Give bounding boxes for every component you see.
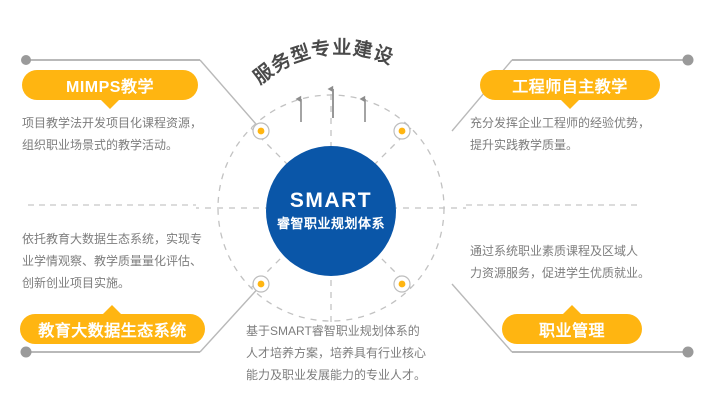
footer-body-line: 人才培养方案，培养具有行业核心 xyxy=(246,342,471,364)
lead-line-top-right xyxy=(512,55,694,66)
core-title-en: SMART xyxy=(290,188,372,214)
lead-line-top-left xyxy=(21,55,200,65)
ring-node-bottom-right[interactable] xyxy=(394,276,410,292)
lead-line-bottom-right xyxy=(512,347,694,358)
footer-body-line: 能力及职业发展能力的专业人才。 xyxy=(246,364,471,386)
branch-body-line: 充分发挥企业工程师的经验优势， xyxy=(470,112,680,134)
footer-body-line: 基于SMART睿智职业规划体系的 xyxy=(246,320,471,342)
branch-body-line: 提升实践教学质量。 xyxy=(470,134,680,156)
branch-body-mimps: 项目教学法开发项目化课程资源， 组织职业场景式的教学活动。 xyxy=(22,112,222,156)
core-title-cn: 睿智职业规划体系 xyxy=(277,214,385,234)
branch-body-line: 创新创业项目实施。 xyxy=(22,272,227,294)
branch-body-line: 业学情观察、教学质量量化评估、 xyxy=(22,250,227,272)
ring-node-top-left[interactable] xyxy=(253,123,269,139)
pointer-triangle-engineer xyxy=(561,100,579,109)
branch-body-career: 通过系统职业素质课程及区域人 力资源服务，促进学生优质就业。 xyxy=(470,240,680,284)
branch-body-engineer: 充分发挥企业工程师的经验优势， 提升实践教学质量。 xyxy=(470,112,680,156)
pointer-triangle-mimps xyxy=(101,100,119,109)
pointer-triangle-bigdata xyxy=(103,305,121,314)
branch-body-line: 依托教育大数据生态系统，实现专 xyxy=(22,228,227,250)
ring-node-top-right[interactable] xyxy=(394,123,410,139)
core-circle: SMART 睿智职业规划体系 xyxy=(266,146,396,276)
branch-label-engineer[interactable]: 工程师自主教学 xyxy=(480,70,660,100)
lead-line-bottom-left xyxy=(21,347,201,358)
footer-body: 基于SMART睿智职业规划体系的 人才培养方案，培养具有行业核心 能力及职业发展… xyxy=(246,320,471,386)
branch-label-bigdata[interactable]: 教育大数据生态系统 xyxy=(20,314,205,344)
branch-body-bigdata: 依托教育大数据生态系统，实现专 业学情观察、教学质量量化评估、 创新创业项目实施… xyxy=(22,228,227,294)
branch-body-line: 通过系统职业素质课程及区域人 xyxy=(470,240,680,262)
pointer-triangle-career xyxy=(563,305,581,314)
branch-body-line: 组织职业场景式的教学活动。 xyxy=(22,134,222,156)
branch-label-mimps[interactable]: MIMPS教学 xyxy=(22,70,198,100)
infographic-canvas: 服务型专业建设 SMART 睿智职业规划体系 MIMPS教学 项目教学法开发项目… xyxy=(0,0,714,401)
branch-label-career[interactable]: 职业管理 xyxy=(502,314,642,344)
branch-body-line: 力资源服务，促进学生优质就业。 xyxy=(470,262,680,284)
branch-body-line: 项目教学法开发项目化课程资源， xyxy=(22,112,222,134)
ring-node-bottom-left[interactable] xyxy=(253,276,269,292)
